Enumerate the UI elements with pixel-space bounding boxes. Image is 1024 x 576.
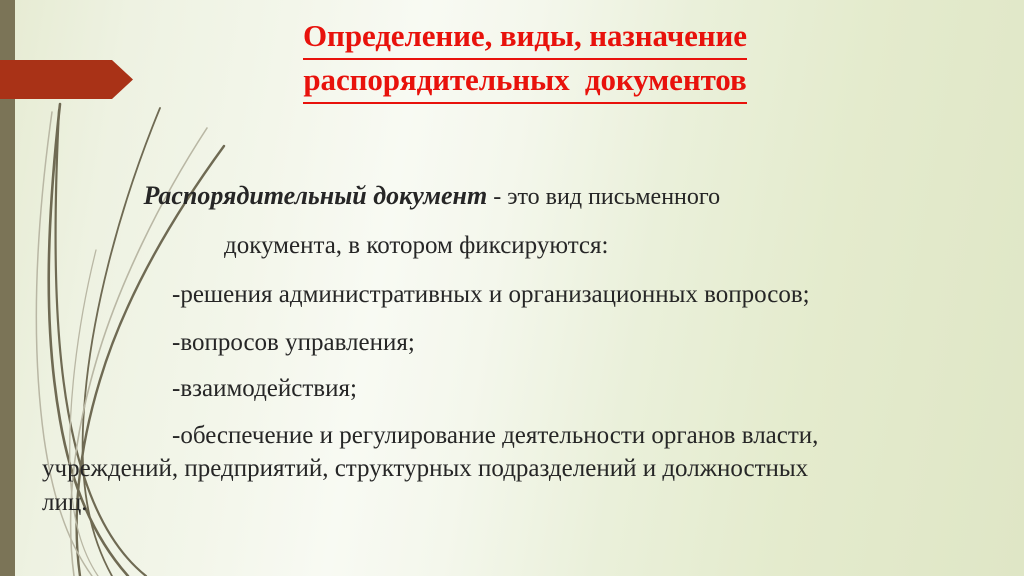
bullet-item-4-wrap-line-1: учреждений, предприятий, структурных под… [42, 455, 808, 484]
bullet-item-4: -обеспечение и регулирование деятельност… [172, 422, 818, 451]
slide-canvas: Определение, виды, назначение распорядит… [0, 0, 1024, 576]
definition-term: Распорядительный документ [144, 181, 488, 210]
definition-lead-line: Распорядительный документ - это вид пись… [106, 152, 720, 240]
bullet-item-4-wrap-line-2: лиц. [42, 489, 87, 518]
definition-continuation: документа, в котором фиксируются: [224, 232, 608, 261]
bullet-item-1: -решения административных и организацион… [172, 281, 810, 310]
definition-lead-rest: - это вид письменного [487, 184, 720, 210]
bullet-item-3: -взаимодействия; [172, 375, 357, 404]
body-content: Распорядительный документ - это вид пись… [0, 0, 1024, 576]
bullet-item-2: -вопросов управления; [172, 329, 415, 358]
